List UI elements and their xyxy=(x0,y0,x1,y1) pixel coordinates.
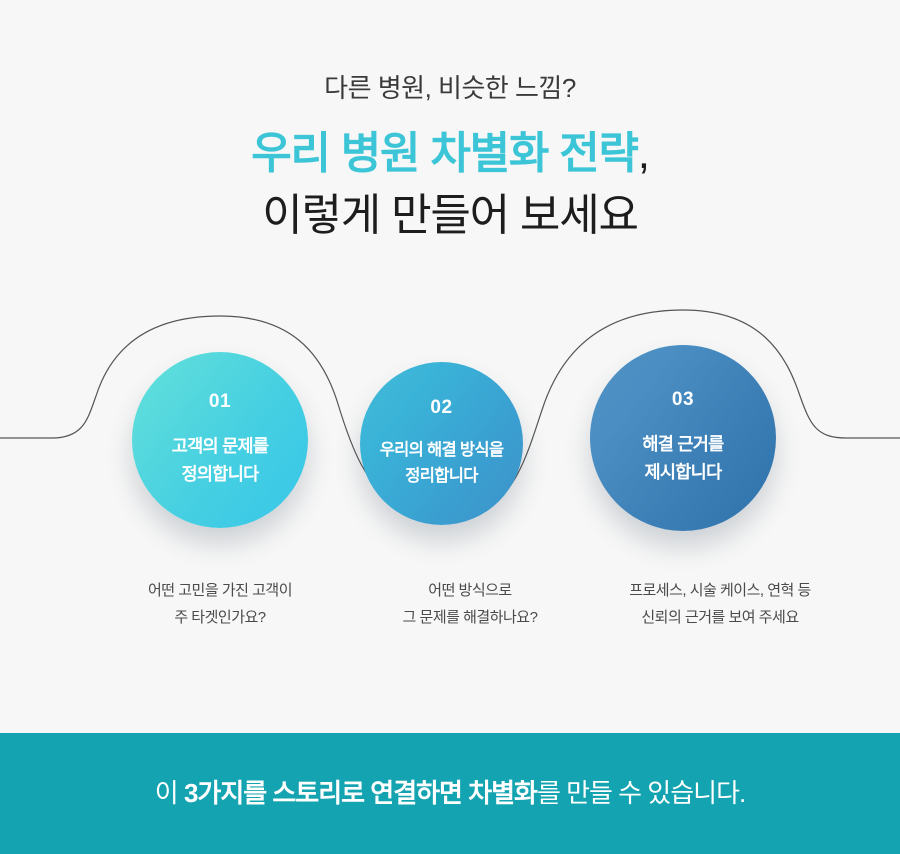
footer-message: 이 3가지를 스토리로 연결하면 차별화를 만들 수 있습니다. xyxy=(155,778,745,809)
step-circle-2[interactable]: 02 우리의 해결 방식을 정리합니다 xyxy=(360,362,523,525)
footer-strong: 3가지를 스토리로 연결하면 차별화 xyxy=(184,778,537,808)
step-label-2: 우리의 해결 방식을 정리합니다 xyxy=(380,437,504,489)
step-number-2: 02 xyxy=(430,398,452,417)
footer-banner: 이 3가지를 스토리로 연결하면 차별화를 만들 수 있습니다. xyxy=(0,733,900,854)
eyebrow-text: 다른 병원, 비슷한 느낌? xyxy=(0,72,900,105)
step-label-3: 해결 근거를 제시합니다 xyxy=(642,431,723,486)
footer-prefix: 이 xyxy=(155,778,184,808)
step-circle-3[interactable]: 03 해결 근거를 제시합니다 xyxy=(590,345,776,531)
step-number-3: 03 xyxy=(672,390,694,409)
captions-row: 어떤 고민을 가진 고객이 주 타겟인가요? 어떤 방식으로 그 문제를 해결하… xyxy=(0,578,900,631)
step-caption-3: 프로세스, 시술 케이스, 연혁 등 신뢰의 근거를 보여 주세요 xyxy=(570,578,870,631)
header-section: 다른 병원, 비슷한 느낌? 우리 병원 차별화 전략, 이렇게 만들어 보세요 xyxy=(0,0,900,247)
step-label-1: 고객의 문제를 정의합니다 xyxy=(172,433,269,488)
headline-accent: 우리 병원 차별화 전략 xyxy=(251,129,638,178)
page-title: 우리 병원 차별화 전략, 이렇게 만들어 보세요 xyxy=(0,123,900,248)
step-caption-2: 어떤 방식으로 그 문제를 해결하나요? xyxy=(370,578,570,631)
footer-suffix: 를 만들 수 있습니다. xyxy=(537,778,745,808)
step-caption-1: 어떤 고민을 가진 고객이 주 타겟인가요? xyxy=(70,578,370,631)
headline-comma: , xyxy=(638,129,649,178)
step-circle-1[interactable]: 01 고객의 문제를 정의합니다 xyxy=(132,352,308,528)
step-number-1: 01 xyxy=(209,392,231,411)
headline-line-2: 이렇게 만들어 보세요 xyxy=(262,191,638,240)
